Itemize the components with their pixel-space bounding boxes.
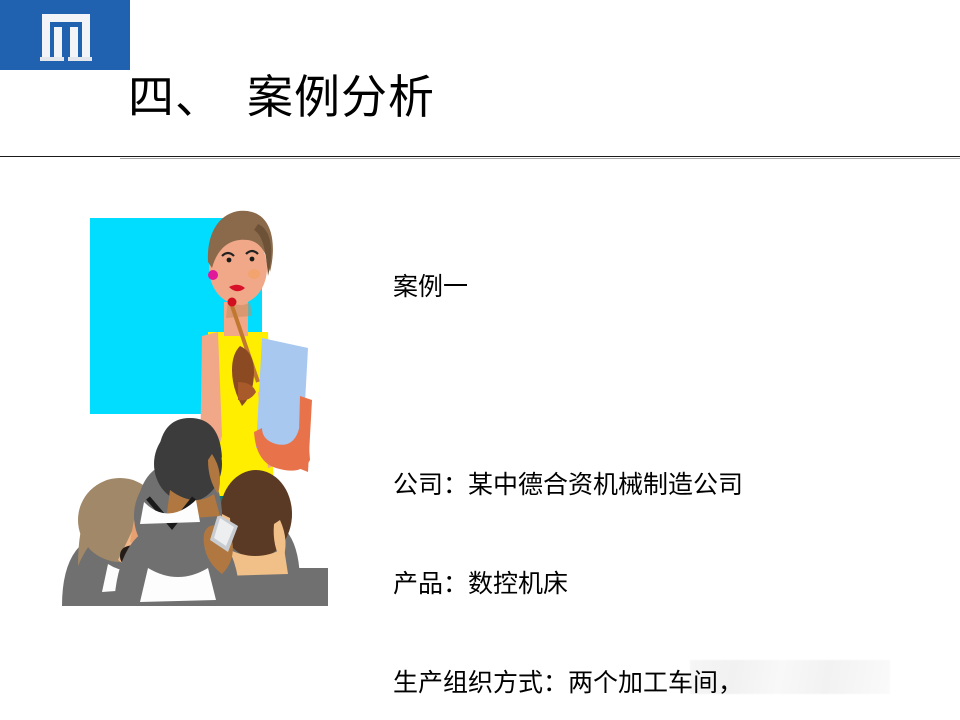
text-line: 公司：某中德合资机械制造公司 bbox=[393, 469, 953, 502]
earring bbox=[208, 270, 218, 280]
slide-canvas: 四、 案例分析 bbox=[0, 0, 960, 720]
gate-arch-logo-icon bbox=[40, 9, 92, 61]
title-divider-shadow bbox=[120, 158, 960, 159]
text-line-blank bbox=[393, 370, 953, 403]
page-title: 四、 案例分析 bbox=[128, 70, 435, 126]
title-divider bbox=[0, 156, 960, 157]
body-text-block: 案例一 公司：某中德合资机械制造公司 产品：数控机床 生产组织方式：两个加工车间… bbox=[393, 205, 953, 720]
watermark bbox=[690, 660, 890, 694]
text-line: 产品：数控机床 bbox=[393, 568, 953, 601]
text-line: 案例一 bbox=[393, 271, 953, 304]
presentation-meeting-clipart bbox=[62, 196, 328, 606]
logo-badge bbox=[0, 0, 130, 70]
